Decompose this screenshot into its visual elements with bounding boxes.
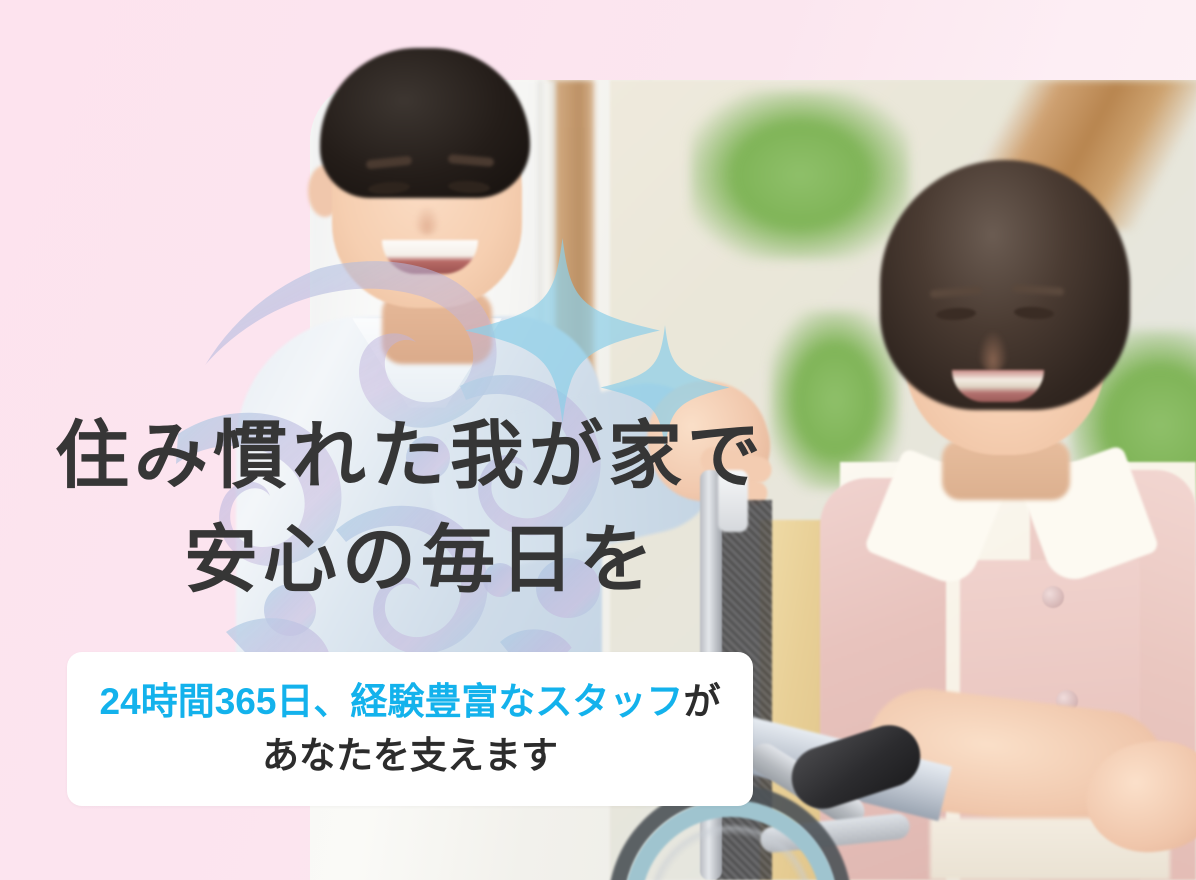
hero-subtitle-card: 24時間365日、経験豊富なスタッフが あなたを支えます [67,652,753,806]
elderly-woman-nose [978,330,1008,372]
hero-banner: 住み慣れた我が家で 安心の毎日を 24時間365日、経験豊富なスタッフが あなた… [0,0,1196,880]
caregiver-nose [414,205,440,235]
wheelchair-brake [718,470,748,532]
subtitle-tail-text: が [683,681,720,722]
subtitle-line-1: 24時間365日、経験豊富なスタッフが [100,675,721,729]
subtitle-line-2: あなたを支えます [262,729,558,783]
cardigan-button [1042,586,1064,608]
photo-plant [690,90,910,260]
subtitle-accent-text: 24時間365日、経験豊富なスタッフ [100,681,684,722]
